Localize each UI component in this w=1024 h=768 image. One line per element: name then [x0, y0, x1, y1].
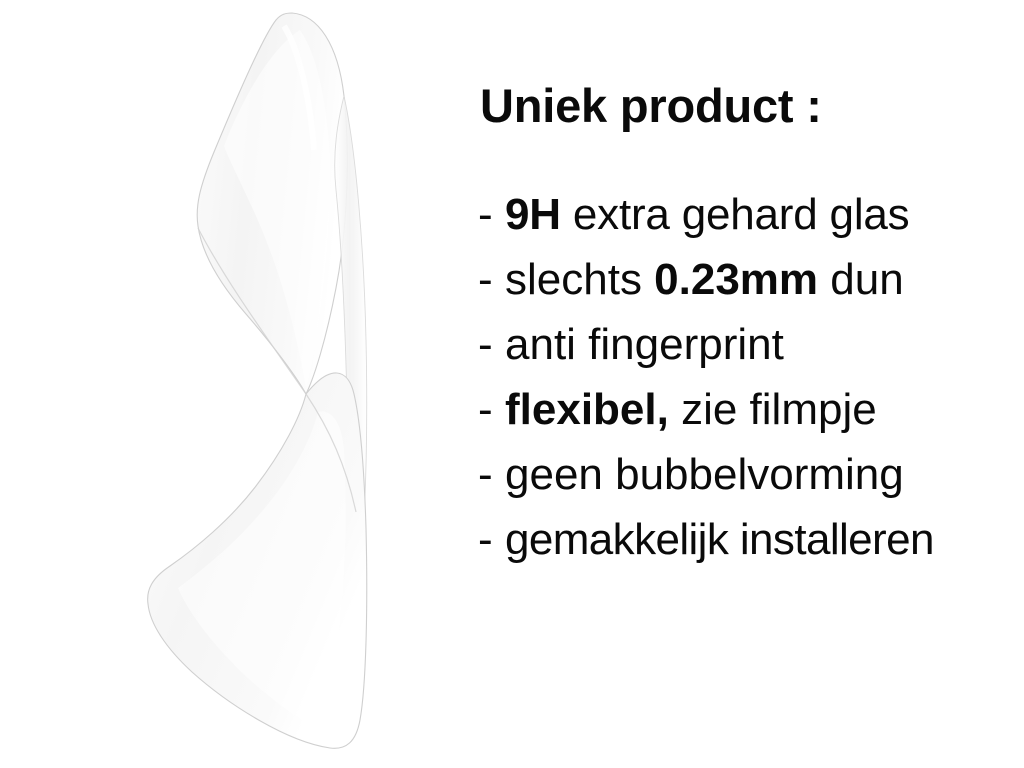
list-item: -9H extra gehard glas [470, 182, 1024, 247]
bullet-dash-icon: - [478, 247, 505, 312]
copy-block: Uniek product : -9H extra gehard glas -s… [470, 0, 1024, 768]
feature-emphasis-flexibel: flexibel, [505, 385, 669, 434]
list-item: -anti fingerprint [470, 312, 1024, 377]
bullet-dash-icon: - [478, 182, 505, 247]
feature-text-2: anti fingerprint [505, 320, 784, 369]
feature-rest-0: extra gehard glas [561, 190, 910, 239]
product-image [0, 0, 460, 768]
bullet-dash-icon: - [478, 312, 505, 377]
feature-list: -9H extra gehard glas -slechts 0.23mm du… [470, 182, 1024, 572]
feature-emphasis-9h: 9H [505, 190, 561, 239]
feature-emphasis-thickness: 0.23mm [654, 255, 818, 304]
list-item: -flexibel, zie filmpje [470, 377, 1024, 442]
page-title: Uniek product : [480, 81, 822, 130]
feature-text-3: flexibel, zie filmpje [505, 385, 877, 434]
feature-rest-1: dun [818, 255, 904, 304]
list-item: -gemakkelijk installeren [470, 507, 1024, 572]
list-item: -geen bubbelvorming [470, 442, 1024, 507]
feature-text-1: slechts 0.23mm dun [505, 255, 904, 304]
list-item: -slechts 0.23mm dun [470, 247, 1024, 312]
feature-rest-3: zie filmpje [669, 385, 877, 434]
bullet-dash-icon: - [478, 442, 505, 507]
feature-text-0: 9H extra gehard glas [505, 190, 909, 239]
bullet-dash-icon: - [478, 507, 505, 572]
feature-lead-1: slechts [505, 255, 654, 304]
feature-text-5: gemakkelijk installeren [505, 515, 934, 564]
bullet-dash-icon: - [478, 377, 505, 442]
product-promo-banner: Uniek product : -9H extra gehard glas -s… [0, 0, 1024, 768]
feature-text-4: geen bubbelvorming [505, 450, 904, 499]
